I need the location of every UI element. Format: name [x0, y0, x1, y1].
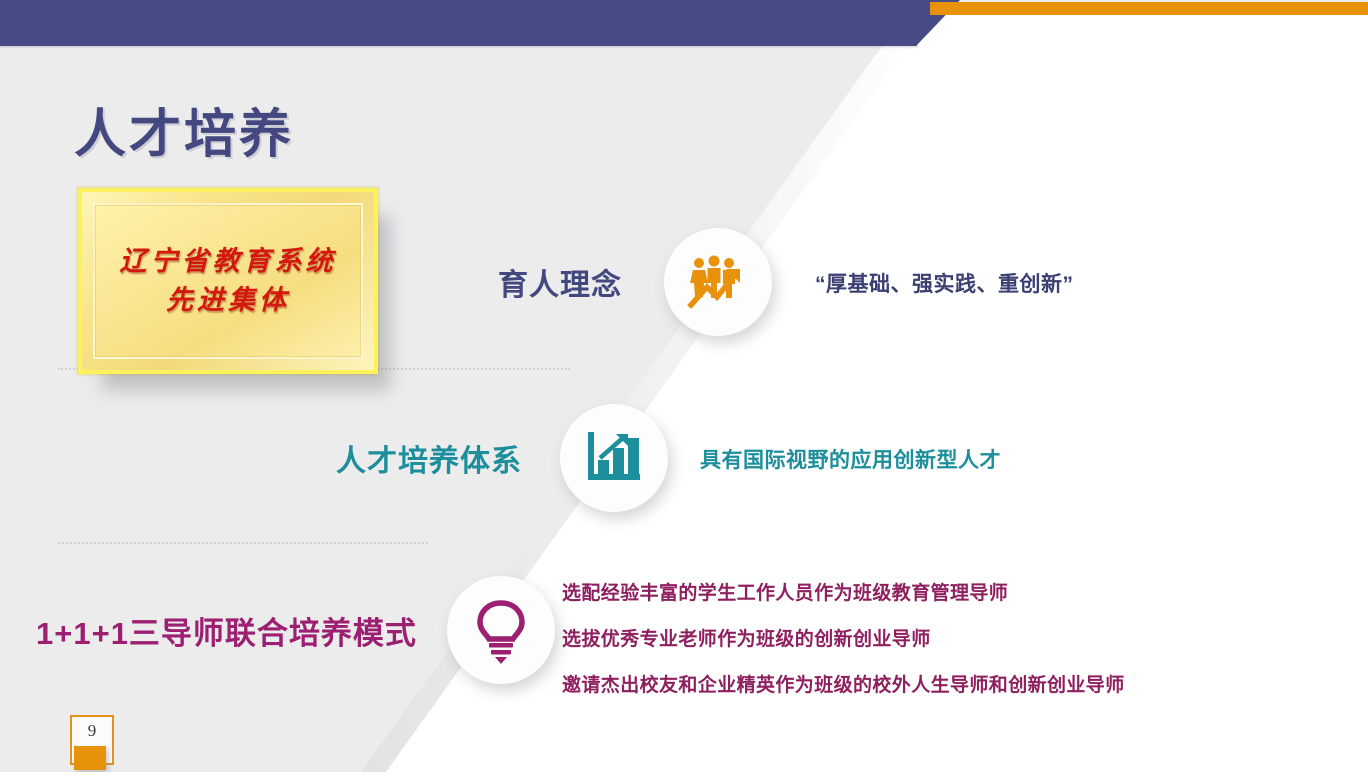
row-label-talent-system: 人才培养体系: [336, 436, 522, 480]
lightbulb-icon: [467, 596, 535, 664]
row-label-education-philosophy: 育人理念: [498, 260, 622, 304]
row-text-talent-system: 具有国际视野的应用创新型人才: [700, 444, 1001, 474]
row-label-mentor-model: 1+1+1三导师联合培养模式: [36, 608, 417, 653]
award-plaque-inner: 辽宁省教育系统 先进集体: [93, 203, 363, 359]
people-growth-arrow-icon: [683, 247, 753, 317]
page-number-accent-square: [74, 746, 106, 770]
icon-circle-lightbulb: [447, 576, 555, 684]
list-item: 选拔优秀专业老师作为班级的创新创业导师: [562, 624, 1125, 651]
row-talent-system: 人才培养体系: [336, 404, 668, 512]
page-number-text: 9: [88, 721, 97, 741]
row-mentor-model: 1+1+1三导师联合培养模式: [36, 576, 555, 684]
list-item: 邀请杰出校友和企业精英作为班级的校外人生导师和创新创业导师: [562, 670, 1125, 697]
slide: 人才培养 辽宁省教育系统 先进集体 育人理念: [0, 0, 1368, 776]
award-plaque-line-1: 辽宁省教育系统: [120, 242, 337, 281]
row-education-philosophy: 育人理念: [498, 228, 772, 336]
divider-dotted-bottom: [58, 542, 428, 544]
row-text-education-philosophy: “厚基础、强实践、重创新”: [815, 268, 1074, 298]
bar-chart-growth-icon: [582, 426, 646, 490]
icon-circle-bar-chart: [560, 404, 668, 512]
page-title: 人才培养: [74, 92, 294, 167]
header-bar-navy: [0, 0, 960, 46]
mentor-model-bullet-list: 选配经验丰富的学生工作人员作为班级教育管理导师 选拔优秀专业老师作为班级的创新创…: [562, 578, 1125, 697]
bottom-strip: [0, 772, 1368, 776]
award-plaque: 辽宁省教育系统 先进集体: [78, 188, 378, 374]
header-bar-orange: [930, 2, 1368, 15]
award-plaque-line-2: 先进集体: [166, 281, 290, 320]
list-item: 选配经验丰富的学生工作人员作为班级教育管理导师: [562, 578, 1125, 605]
icon-circle-people-growth: [664, 228, 772, 336]
